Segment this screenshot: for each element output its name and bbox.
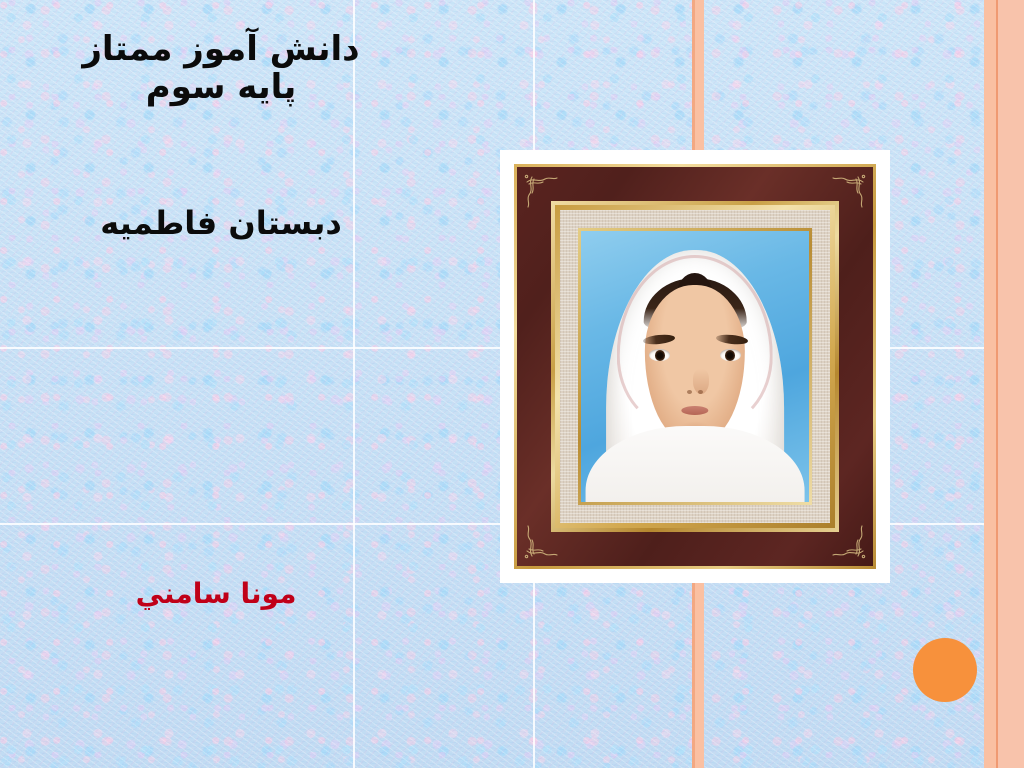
portrait-face (645, 285, 745, 442)
student-photo-frame: portrait of a young girl wearing a white… (500, 150, 890, 583)
frame-gold-bevel-1: portrait of a young girl wearing a white… (551, 201, 839, 532)
frame-gold-outer-edge: portrait of a young girl wearing a white… (514, 164, 876, 569)
school-name: دبستان فاطمیه (56, 206, 386, 242)
student-portrait-photo: portrait of a young girl wearing a white… (581, 231, 809, 502)
portrait-alt-text: portrait of a young girl wearing a white… (808, 231, 809, 232)
slide-canvas: دانش آموز ممتاز پایه سوم دبستان فاطمیه م… (0, 0, 1024, 768)
portrait-nostril-left (687, 390, 692, 394)
portrait-nostril-right (698, 390, 703, 394)
frame-wood-body: portrait of a young girl wearing a white… (517, 167, 873, 566)
frame-inner-gold-line: portrait of a young girl wearing a white… (578, 228, 812, 505)
student-name: مونا سامني (86, 578, 346, 609)
accent-band-inner (984, 0, 996, 768)
page-title: دانش آموز ممتاز پایه سوم (56, 30, 386, 106)
gridline-vertical-1 (353, 0, 355, 768)
orange-circle-icon (913, 638, 977, 702)
portrait-iris-left (655, 350, 665, 361)
frame-gold-bevel-2: portrait of a young girl wearing a white… (555, 205, 835, 528)
frame-linen-mat: portrait of a young girl wearing a white… (560, 210, 830, 523)
accent-band-right (998, 0, 1024, 768)
